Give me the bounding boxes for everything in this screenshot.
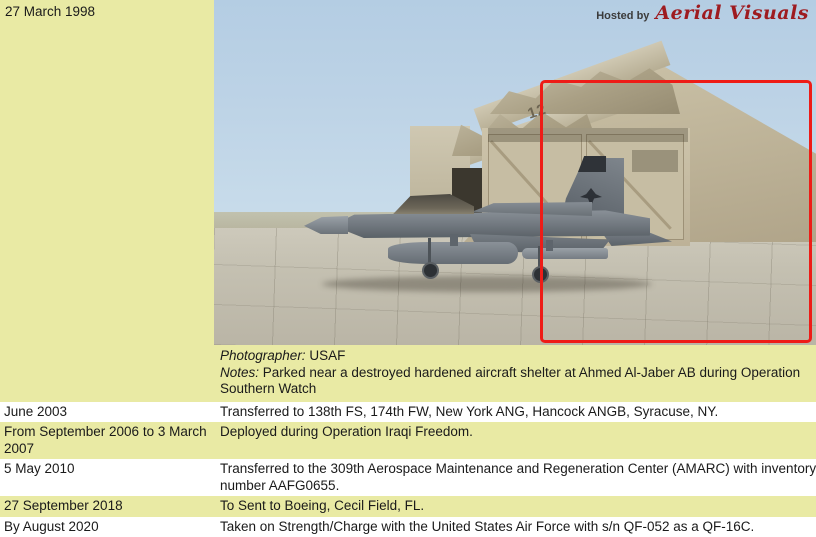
history-date-cell: 27 September 2018 bbox=[0, 496, 214, 517]
aircraft-photo: 12 bbox=[214, 0, 816, 345]
watermark: Hosted by Aerial Visuals bbox=[596, 5, 809, 25]
watermark-brand: Aerial Visuals bbox=[655, 5, 809, 22]
highlight-rectangle bbox=[540, 80, 812, 343]
nose-gear-wheel bbox=[422, 262, 439, 279]
photo-content-cell: 12 bbox=[214, 0, 816, 402]
photo-date-cell: 27 March 1998 bbox=[0, 0, 214, 402]
history-date-cell: 5 May 2010 bbox=[0, 459, 214, 496]
caption-notes-line: Notes: Parked near a destroyed hardened … bbox=[220, 365, 816, 398]
history-description-cell: Deployed during Operation Iraqi Freedom. bbox=[214, 422, 816, 459]
table-row: From September 2006 to 3 March 2007Deplo… bbox=[0, 422, 816, 459]
table-row: 5 May 2010Transferred to the 309th Aeros… bbox=[0, 459, 816, 496]
history-description-cell: To Sent to Boeing, Cecil Field, FL. bbox=[214, 496, 816, 517]
watermark-hosted-by: Hosted by bbox=[596, 8, 649, 25]
history-description-cell: Taken on Strength/Charge with the United… bbox=[214, 517, 816, 537]
caption-notes-label: Notes: bbox=[220, 365, 259, 380]
photo-date-label: 27 March 1998 bbox=[5, 4, 95, 19]
aircraft-history-table: 27 March 1998 bbox=[0, 0, 816, 537]
history-description-cell: Transferred to the 309th Aerospace Maint… bbox=[214, 459, 816, 496]
pylon-center bbox=[450, 234, 458, 246]
caption-notes-value: Parked near a destroyed hardened aircraf… bbox=[220, 365, 800, 397]
page-root: 27 March 1998 bbox=[0, 0, 816, 523]
history-date-cell: June 2003 bbox=[0, 402, 214, 423]
caption-photographer-line: Photographer: USAF bbox=[220, 348, 816, 365]
caption-photographer-label: Photographer: bbox=[220, 348, 306, 363]
cockpit-canopy bbox=[388, 194, 474, 214]
table-body: 27 March 1998 bbox=[0, 0, 816, 537]
table-row: By August 2020Taken on Strength/Charge w… bbox=[0, 517, 816, 537]
history-description-cell: Transferred to 138th FS, 174th FW, New Y… bbox=[214, 402, 816, 423]
table-row: June 2003Transferred to 138th FS, 174th … bbox=[0, 402, 816, 423]
history-date-cell: From September 2006 to 3 March 2007 bbox=[0, 422, 214, 459]
table-row-photo: 27 March 1998 bbox=[0, 0, 816, 402]
history-date-cell: By August 2020 bbox=[0, 517, 214, 537]
photo-caption: Photographer: USAF Notes: Parked near a … bbox=[214, 345, 816, 402]
caption-photographer-value: USAF bbox=[309, 348, 345, 363]
nose-gear-strut bbox=[428, 238, 431, 264]
table-row: 27 September 2018To Sent to Boeing, Ceci… bbox=[0, 496, 816, 517]
